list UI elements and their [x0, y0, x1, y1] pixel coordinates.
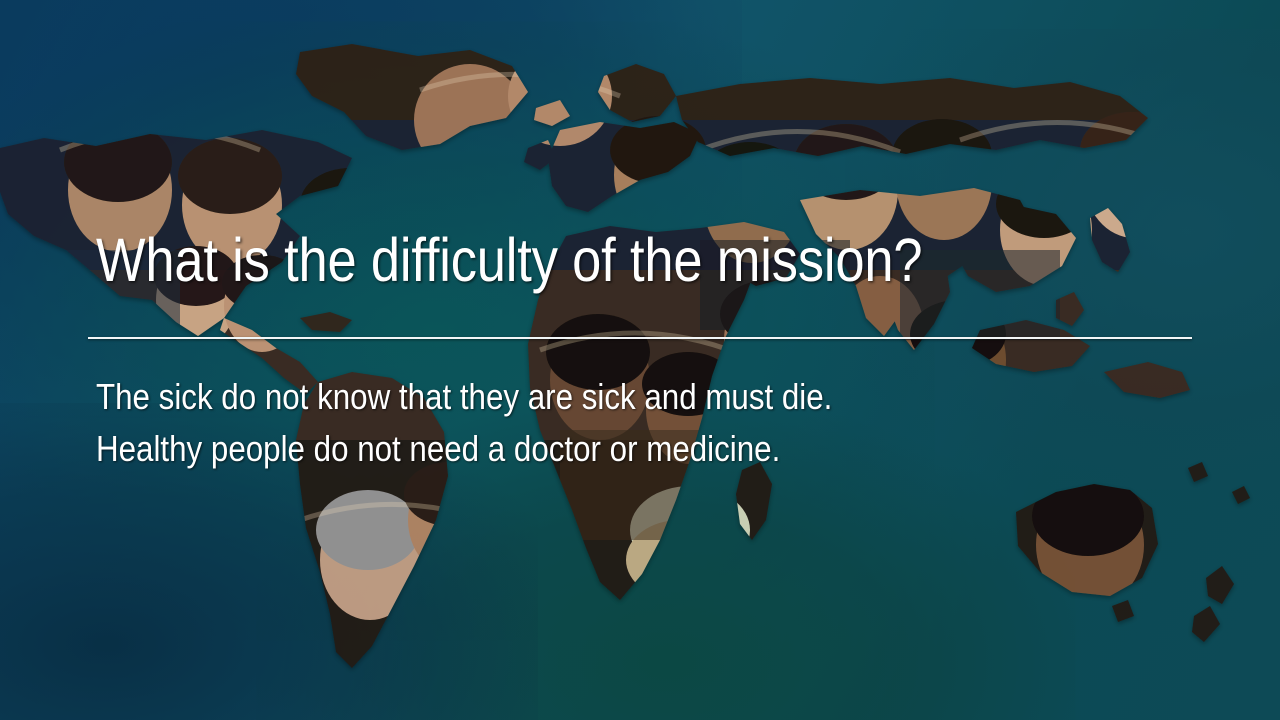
map-region-caribbean — [300, 312, 352, 332]
world-map-svg — [0, 0, 1280, 720]
world-map-graphic — [0, 0, 1280, 720]
map-region-pacific-islands — [1188, 462, 1208, 482]
map-region-pacific-islands-2 — [1232, 486, 1250, 504]
map-region-north-asia — [676, 78, 1148, 156]
body-line-1: The sick do not know that they are sick … — [96, 371, 1036, 423]
map-region-scandinavia — [598, 64, 676, 122]
map-region-new-zealand-south — [1192, 606, 1220, 642]
map-region-new-guinea — [1104, 362, 1190, 398]
map-region-philippines — [1056, 292, 1084, 326]
map-region-tasmania — [1112, 600, 1134, 622]
slide-title: What is the difficulty of the mission? — [96, 228, 1042, 292]
map-region-southeast-asia — [972, 320, 1090, 372]
presentation-slide: What is the difficulty of the mission? T… — [0, 0, 1280, 720]
map-region-greenland — [296, 44, 528, 150]
body-line-2: Healthy people do not need a doctor or m… — [96, 423, 1036, 475]
slide-body-text: The sick do not know that they are sick … — [96, 371, 1036, 475]
map-region-australia — [1016, 484, 1158, 596]
map-region-new-zealand — [1206, 566, 1234, 604]
map-region-iceland — [534, 100, 570, 126]
map-region-europe — [548, 122, 700, 212]
map-region-japan — [1090, 208, 1130, 272]
title-divider-rule — [88, 337, 1192, 339]
